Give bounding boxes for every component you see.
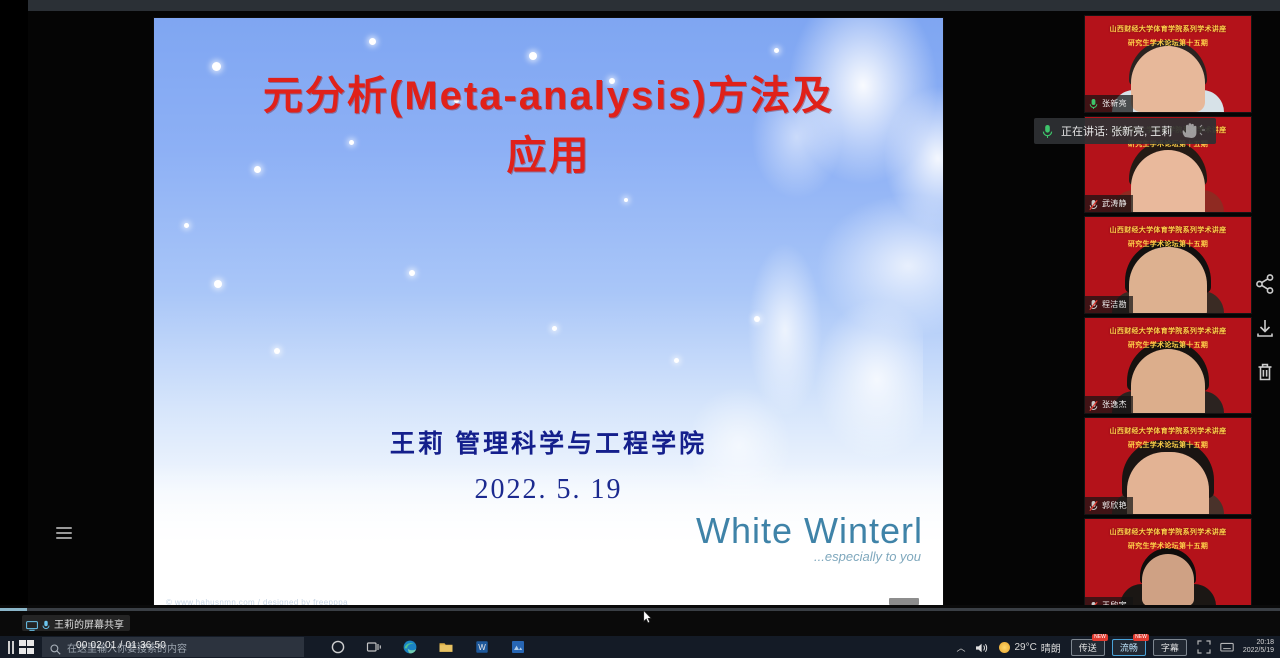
playback-progress-bar[interactable]	[0, 608, 1280, 611]
expand-fullscreen-icon[interactable]	[1197, 640, 1211, 654]
task-view-icon[interactable]	[366, 639, 382, 655]
mic-muted-icon	[1089, 600, 1098, 606]
share-icon[interactable]	[1254, 273, 1276, 295]
ime-toolbar: 传送 NEW 流畅 NEW 字幕	[1071, 639, 1187, 656]
mic-active-icon	[1042, 124, 1053, 139]
snowflake	[674, 358, 679, 363]
participant-name: 郭欣艳	[1102, 500, 1127, 511]
participant-face	[1142, 554, 1194, 605]
windows-start-button[interactable]	[19, 640, 34, 654]
right-toolbar	[1250, 273, 1280, 383]
windows-taskbar: 在这里输入你要搜索的内容 00:02:01 / 01:36:50 W	[0, 636, 1280, 658]
tile-banner-line1: 山西财经大学体育学院系列学术讲座	[1085, 527, 1251, 537]
mouse-cursor	[643, 610, 652, 624]
tile-banner-line1: 山西财经大学体育学院系列学术讲座	[1085, 426, 1251, 436]
snowflake	[184, 223, 189, 228]
ime-button-transfer[interactable]: 传送 NEW	[1071, 639, 1105, 656]
chevron-up-icon[interactable]: ︿	[956, 641, 965, 654]
weather-desc: 晴朗	[1041, 640, 1061, 655]
mic-muted-icon	[1089, 97, 1098, 109]
slide-brand-subtitle: ...especially to you	[814, 549, 921, 564]
sun-icon	[999, 642, 1010, 653]
screen-share-label: 王莉的屏幕共享	[54, 616, 124, 631]
participant-name: 张逸杰	[1102, 399, 1127, 410]
pause-bars-icon[interactable]	[8, 641, 14, 654]
download-icon[interactable]	[1254, 317, 1276, 339]
shared-slide: 元分析(Meta-analysis)方法及 应用 王莉 管理科学与工程学院 20…	[153, 17, 944, 605]
mic-icon	[42, 618, 50, 629]
snowflake	[754, 316, 760, 322]
weather-temp: 29°C	[1014, 642, 1036, 653]
playback-timer: 00:02:01 / 01:36:50	[76, 640, 166, 651]
participant-name: 王欣宇	[1102, 600, 1127, 605]
ime-button-subtitle-label: 字幕	[1161, 643, 1179, 653]
taskbar-left-cluster: 在这里输入你要搜索的内容 00:02:01 / 01:36:50 W	[0, 636, 526, 658]
taskbar-time: 20:18	[1243, 639, 1274, 647]
snowflake	[529, 52, 537, 60]
taskbar-app-icons: W	[330, 639, 526, 655]
taskbar-date: 2022/5/19	[1243, 647, 1274, 655]
tile-banner-line2: 研究生学术论坛第十五期	[1085, 440, 1251, 450]
slide-date: 2022. 5. 19	[154, 474, 943, 506]
taskbar-search-box[interactable]: 在这里输入你要搜索的内容 00:02:01 / 01:36:50	[42, 637, 304, 657]
keyboard-icon[interactable]	[1220, 640, 1234, 654]
tile-banner-line1: 山西财经大学体育学院系列学术讲座	[1085, 24, 1251, 34]
participant-name: 程洁勘	[1102, 299, 1127, 310]
mic-muted-icon	[1089, 198, 1098, 210]
speaking-label: 正在讲话: 张新亮, 王莉	[1061, 123, 1172, 139]
speaking-indicator: 正在讲话: 张新亮, 王莉	[1034, 118, 1216, 144]
ime-button-smooth-label: 流畅	[1120, 643, 1138, 653]
store-app-icon[interactable]	[510, 639, 526, 655]
slide-watermark: © www.hahusnmn.com / designed by freeppp…	[166, 598, 348, 605]
participant-face	[1127, 452, 1209, 515]
weather-widget[interactable]: 29°C 晴朗	[999, 640, 1060, 655]
video-stage: 元分析(Meta-analysis)方法及 应用 王莉 管理科学与工程学院 20…	[28, 11, 1280, 605]
window-left-edge	[0, 0, 28, 658]
slide-corner-tab	[889, 598, 919, 605]
participant-face	[1129, 247, 1207, 314]
participant-name: 武涛静	[1102, 198, 1127, 209]
screen-share-icon	[26, 618, 38, 628]
ime-button-subtitle[interactable]: 字幕	[1153, 639, 1187, 656]
share-status-bar: 王莉的屏幕共享	[0, 605, 1280, 639]
ime-button-transfer-label: 传送	[1079, 643, 1097, 653]
search-icon	[50, 642, 61, 653]
participant-name-bar: 武涛静	[1085, 195, 1133, 212]
taskbar-right-cluster: ︿ 29°C 晴朗 传送 NEW 流畅 NEW 字幕	[956, 636, 1280, 658]
slide-title-line1: 元分析(Meta-analysis)方法及	[154, 66, 943, 126]
screen-share-indicator: 王莉的屏幕共享	[22, 615, 130, 631]
snowflake	[774, 48, 779, 53]
mic-muted-icon	[1089, 298, 1098, 310]
participant-name-bar: 张新亮	[1085, 95, 1133, 112]
new-badge: NEW	[1092, 634, 1108, 641]
meeting-recording-player: 元分析(Meta-analysis)方法及 应用 王莉 管理科学与工程学院 20…	[0, 0, 1280, 658]
ime-button-smooth[interactable]: 流畅 NEW	[1112, 639, 1146, 656]
file-explorer-icon[interactable]	[438, 639, 454, 655]
participant-tile[interactable]: 山西财经大学体育学院系列学术讲座 研究生学术论坛第十五期 王欣宇	[1084, 518, 1252, 606]
taskbar-clock[interactable]: 20:18 2022/5/19	[1243, 639, 1274, 655]
participant-name: 张新亮	[1102, 98, 1127, 109]
snowflake	[214, 280, 222, 288]
window-top-bar	[28, 0, 1280, 11]
delete-icon[interactable]	[1254, 361, 1276, 383]
mic-muted-icon	[1089, 499, 1098, 511]
slide-brand: White Winterl	[696, 510, 923, 552]
mic-muted-icon	[1089, 399, 1098, 411]
participant-tile[interactable]: 山西财经大学体育学院系列学术讲座 研究生学术论坛第十五期 程洁勘	[1084, 216, 1252, 314]
participant-tile[interactable]: 山西财经大学体育学院系列学术讲座 研究生学术论坛第十五期 张新亮	[1084, 15, 1252, 113]
tile-banner-line2: 研究生学术论坛第十五期	[1085, 541, 1251, 551]
tile-banner-line2: 研究生学术论坛第十五期	[1085, 340, 1251, 350]
slide-presenter: 王莉 管理科学与工程学院	[154, 424, 943, 460]
snowflake	[369, 38, 376, 45]
slide-title: 元分析(Meta-analysis)方法及 应用	[154, 66, 943, 186]
snowflake	[409, 270, 415, 276]
participant-name-bar: 王欣宇	[1085, 597, 1133, 605]
snowflake	[274, 348, 280, 354]
participant-strip: 山西财经大学体育学院系列学术讲座 研究生学术论坛第十五期 张新亮 山西财经大学体…	[1084, 15, 1252, 605]
snowflake	[552, 326, 557, 331]
cortana-circle-icon[interactable]	[330, 639, 346, 655]
edge-browser-icon[interactable]	[402, 639, 418, 655]
tile-banner-line2: 研究生学术论坛第十五期	[1085, 239, 1251, 249]
participant-tile[interactable]: 山西财经大学体育学院系列学术讲座 研究生学术论坛第十五期 张逸杰	[1084, 317, 1252, 415]
slide-title-line2: 应用	[154, 126, 943, 186]
volume-icon[interactable]	[975, 641, 989, 653]
tile-banner-line2: 研究生学术论坛第十五期	[1085, 38, 1251, 48]
taskbar-tray: 20:18 2022/5/19	[1197, 639, 1274, 655]
participant-tile[interactable]: 山西财经大学体育学院系列学术讲座 研究生学术论坛第十五期 郭欣艳	[1084, 417, 1252, 515]
participant-face	[1131, 46, 1205, 112]
playback-progress-fill	[0, 608, 27, 611]
participant-name-bar: 郭欣艳	[1085, 497, 1133, 514]
tile-banner-line1: 山西财经大学体育学院系列学术讲座	[1085, 225, 1251, 235]
hand-wave-icon	[1180, 122, 1206, 140]
new-badge: NEW	[1133, 634, 1149, 641]
participant-name-bar: 程洁勘	[1085, 296, 1133, 313]
menu-list-icon[interactable]	[56, 522, 78, 544]
svg-text:W: W	[478, 643, 486, 652]
snowflake	[624, 198, 628, 202]
participant-face	[1131, 349, 1205, 414]
participant-name-bar: 张逸杰	[1085, 396, 1133, 413]
word-app-icon[interactable]: W	[474, 639, 490, 655]
tile-banner-line1: 山西财经大学体育学院系列学术讲座	[1085, 326, 1251, 336]
left-rail	[28, 22, 86, 605]
